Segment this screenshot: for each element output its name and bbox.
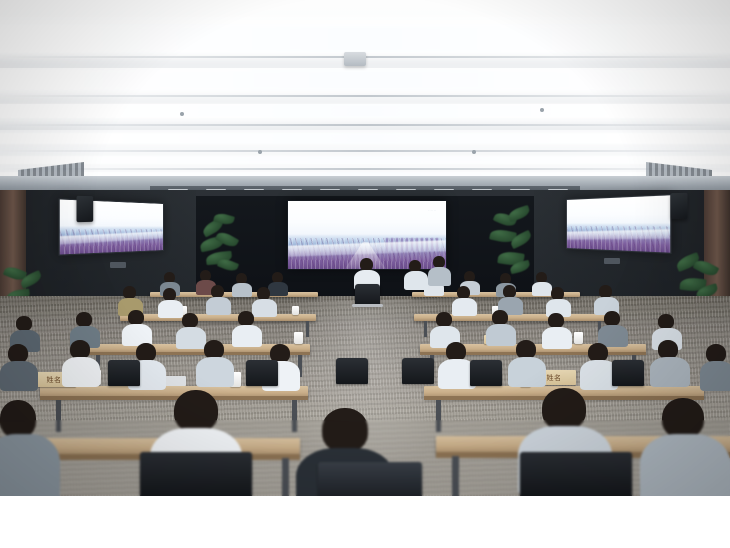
wall-speaker-left (77, 196, 94, 222)
ceiling-sensor-box-icon (344, 52, 366, 66)
ceiling-light-band-2 (0, 70, 730, 90)
table-leg (282, 458, 289, 496)
ceiling-downlight-icon (258, 150, 262, 154)
ceiling-shadow-2 (0, 92, 730, 104)
table-edge (40, 396, 308, 400)
ceiling-smoke-detector-icon (540, 108, 544, 112)
screen-river (567, 229, 671, 239)
table-leg (292, 400, 297, 432)
table-leg (424, 321, 427, 337)
ceiling-seam-3 (0, 124, 730, 126)
ceiling-light-band-5 (0, 156, 730, 164)
ceiling-seam-4 (0, 150, 730, 152)
chair (108, 360, 140, 386)
chair-front (520, 452, 632, 496)
table-leg (436, 400, 441, 432)
chair (402, 358, 434, 384)
chair (336, 358, 368, 384)
ceiling-downlight-icon (472, 150, 476, 154)
side-screen-right[interactable] (566, 194, 672, 254)
ceiling-sprinkler-icon (180, 112, 184, 116)
screen-watermark: ······ (428, 208, 436, 212)
chair (470, 360, 502, 386)
table-leg (56, 400, 61, 432)
ceiling-light-band-1 (0, 26, 730, 52)
ceiling-light-band-4 (0, 133, 730, 144)
table-leg (452, 456, 459, 496)
potted-plant-stage-right (490, 208, 534, 286)
ceiling-light-band-3 (0, 104, 730, 118)
chair-front (140, 452, 252, 496)
paper-cup (294, 332, 303, 344)
wall-speaker-right (671, 193, 688, 219)
ceiling (0, 0, 730, 195)
chair-front (318, 462, 422, 496)
screenshot-root: ······ (0, 0, 730, 548)
screen-camera-icon (359, 200, 375, 201)
paper-cup (574, 332, 583, 344)
wall-logo-plate-right (604, 258, 620, 264)
chair (246, 360, 278, 386)
ceiling-seam-2 (0, 95, 730, 97)
wall-logo-plate-left (110, 262, 126, 268)
paper-cup (292, 306, 299, 315)
chair (355, 284, 380, 306)
ceiling-seam-5 (0, 168, 730, 170)
chair (612, 360, 644, 386)
table-row (120, 314, 316, 321)
conference-room-photo: ······ (0, 0, 730, 496)
table-leg (306, 321, 309, 337)
chair-frame (352, 304, 383, 307)
side-screen-left[interactable] (58, 198, 164, 256)
